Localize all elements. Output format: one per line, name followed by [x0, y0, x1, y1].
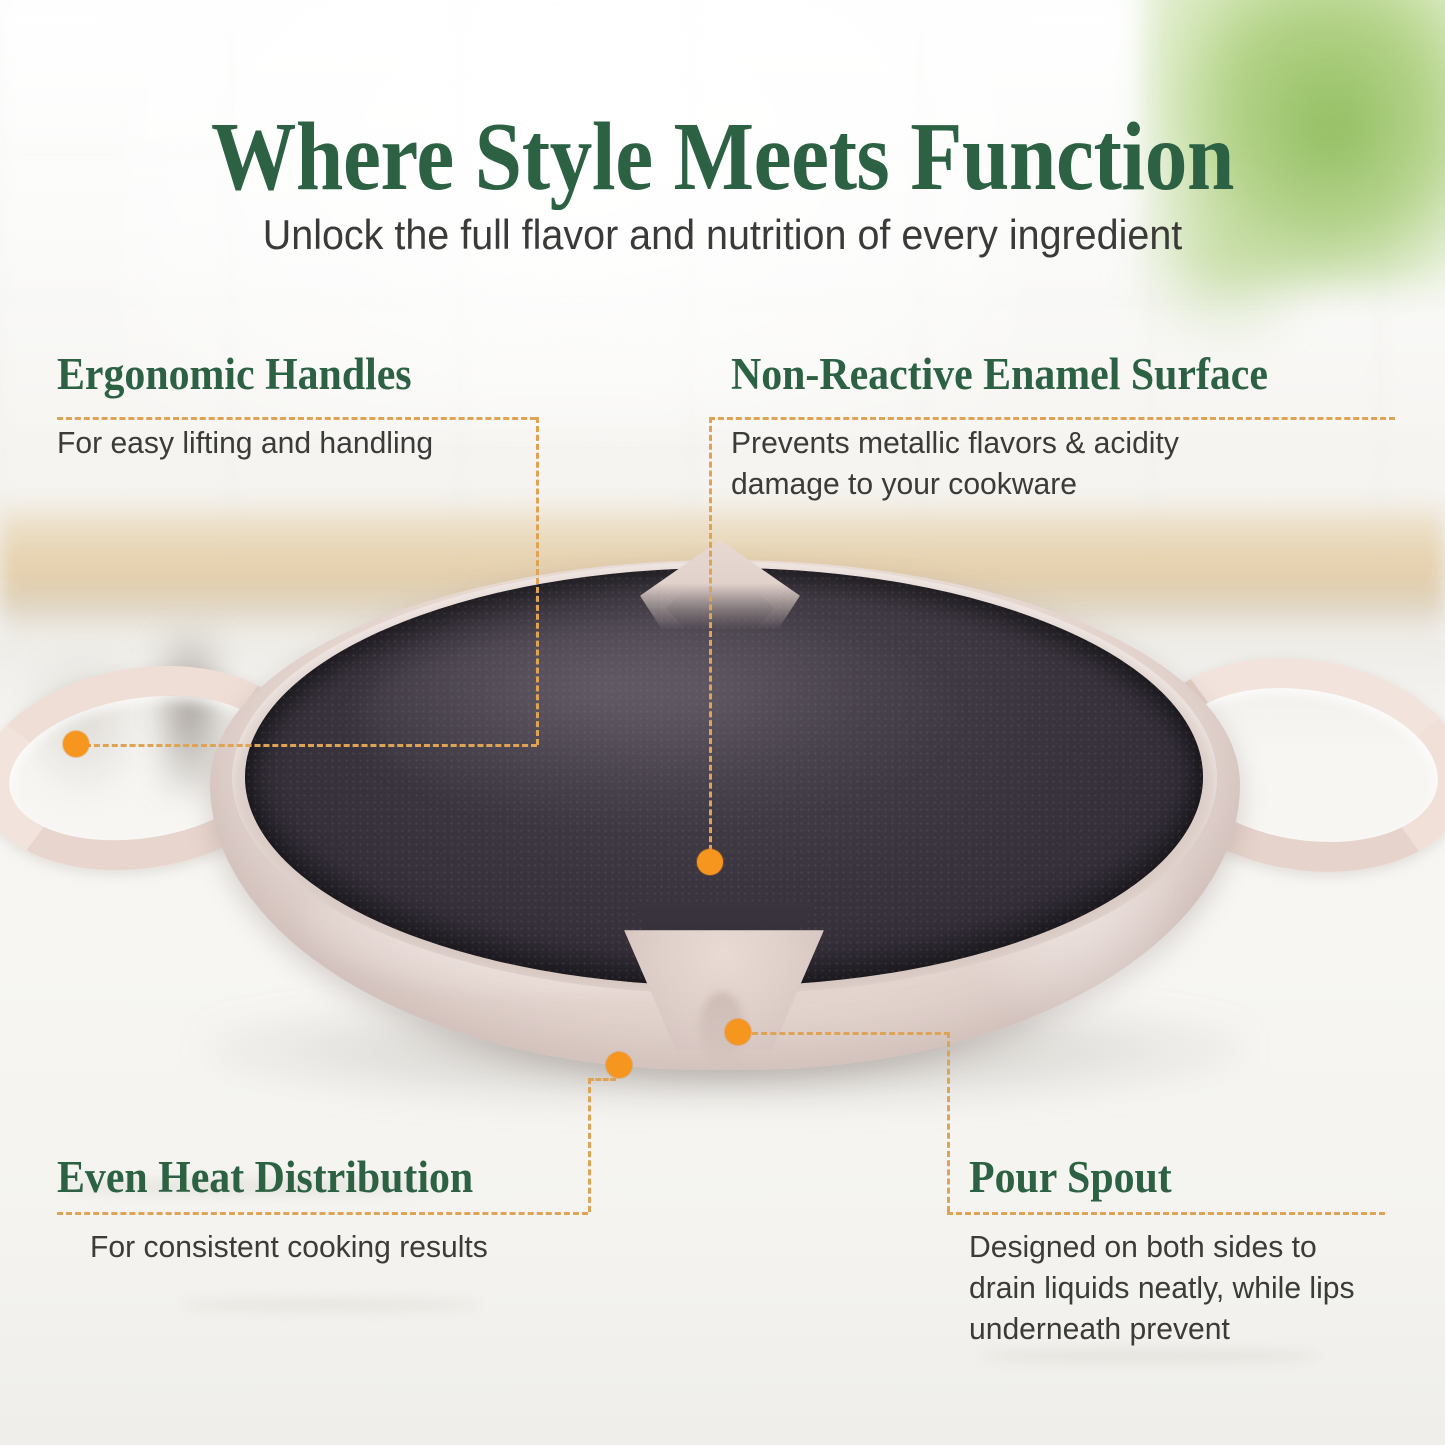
pour-spout-top	[640, 540, 800, 630]
marker-dot-non-reactive-enamel-surface	[697, 849, 723, 875]
callout-pour-spout: Pour Spout Designed on both sides to dra…	[969, 1155, 1389, 1350]
callout-title-even-heat-distribution: Even Heat Distribution	[57, 1155, 608, 1200]
marble-vein	[180, 1300, 480, 1310]
callout-title-ergonomic-handles: Ergonomic Handles	[57, 352, 541, 397]
callout-body-pour-spout: Designed on both sides to drain liquids …	[969, 1226, 1376, 1350]
callout-underline-non-reactive-enamel-surface	[709, 417, 1395, 420]
connector-horizontal-ergonomic-handles	[85, 744, 537, 747]
connector-horizontal-pour-spout	[752, 1032, 950, 1035]
callout-body-even-heat-distribution: For consistent cooking results	[90, 1226, 633, 1267]
callout-title-non-reactive-enamel-surface: Non-Reactive Enamel Surface	[731, 352, 1268, 397]
marble-vein	[980, 1350, 1320, 1362]
connector-vertical-non-reactive-enamel-surface	[709, 417, 712, 851]
marker-dot-pour-spout	[725, 1019, 751, 1045]
callout-underline-even-heat-distribution	[57, 1212, 588, 1215]
connector-vertical-even-heat-distribution	[588, 1078, 591, 1212]
callout-non-reactive-enamel-surface: Non-Reactive Enamel Surface Prevents met…	[731, 352, 1308, 504]
marker-dot-even-heat-distribution	[606, 1052, 632, 1078]
callout-underline-pour-spout	[947, 1212, 1385, 1215]
product-infographic: Where Style Meets Function Unlock the fu…	[0, 0, 1445, 1445]
page-subtitle: Unlock the full flavor and nutrition of …	[43, 212, 1401, 258]
connector-horizontal-even-heat-distribution	[588, 1078, 616, 1081]
marker-dot-ergonomic-handles	[63, 731, 89, 757]
page-title: Where Style Meets Function	[87, 108, 1359, 207]
callout-underline-ergonomic-handles	[57, 417, 536, 420]
connector-vertical-ergonomic-handles	[536, 417, 539, 745]
connector-vertical-pour-spout	[947, 1032, 950, 1212]
product-image-skillet	[0, 540, 1445, 1160]
callout-body-ergonomic-handles: For easy lifting and handling	[57, 422, 561, 463]
callout-title-pour-spout: Pour Spout	[969, 1155, 1360, 1200]
callout-ergonomic-handles: Ergonomic Handles For easy lifting and h…	[57, 352, 577, 463]
callout-body-non-reactive-enamel-surface: Prevents metallic flavors & acidity dama…	[731, 422, 1289, 504]
